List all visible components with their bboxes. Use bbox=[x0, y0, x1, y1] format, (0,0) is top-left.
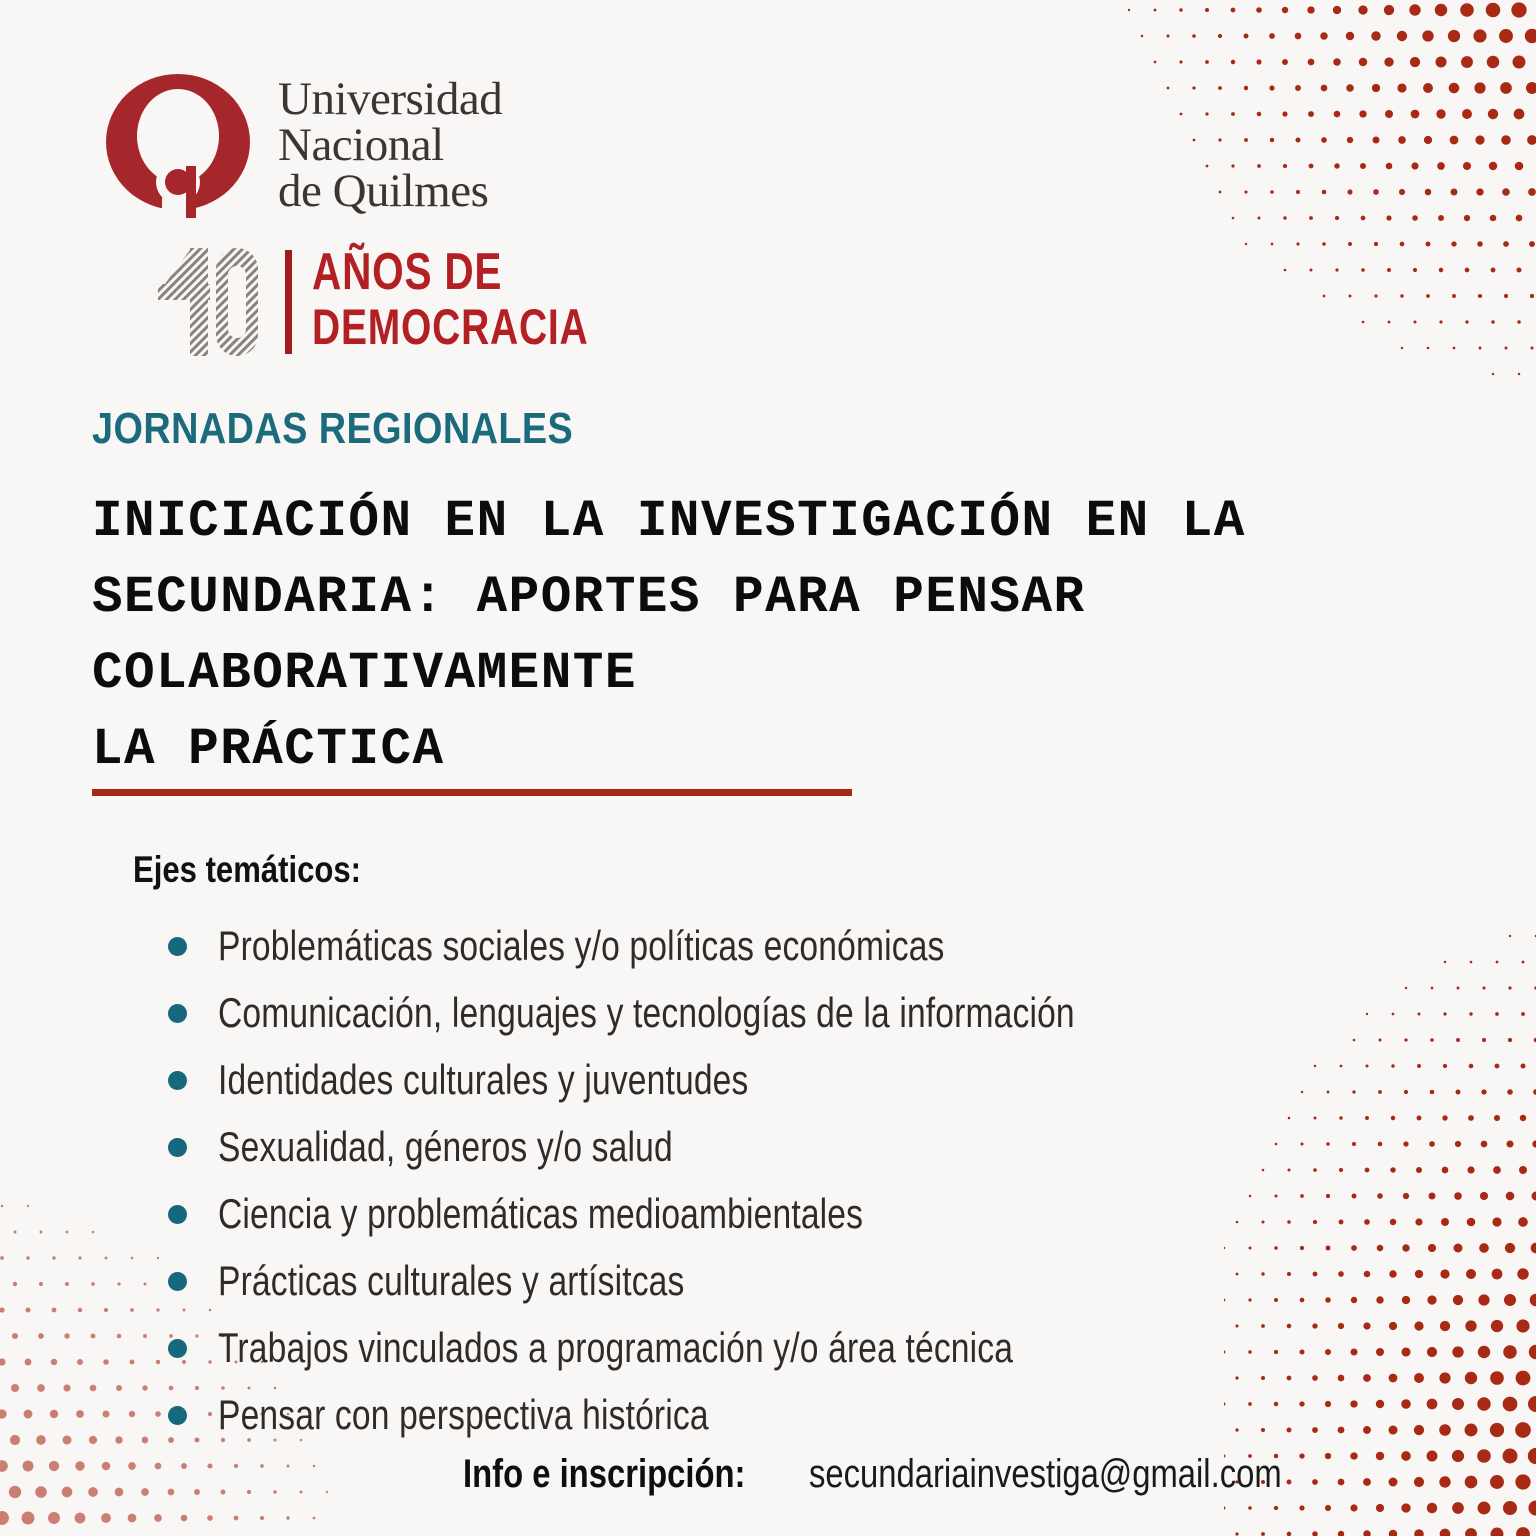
university-logo-block: Universidad Nacional de Quilmes bbox=[92, 62, 652, 362]
bullet-icon bbox=[168, 1138, 187, 1157]
list-item-label: Ciencia y problemáticas medioambientales bbox=[218, 1190, 863, 1238]
title-line-1: INICIACIÓN EN LA INVESTIGACIÓN EN LA bbox=[92, 484, 1395, 560]
bullet-icon bbox=[168, 1339, 187, 1358]
badge-number-40 bbox=[152, 244, 262, 360]
bullet-icon bbox=[168, 1406, 187, 1425]
kicker-jornadas-regionales: JORNADAS REGIONALES bbox=[92, 404, 573, 454]
list-item-label: Prácticas culturales y artísitcas bbox=[218, 1257, 685, 1305]
list-item-label: Comunicación, lenguajes y tecnologías de… bbox=[218, 989, 1075, 1037]
list-item: Comunicación, lenguajes y tecnologías de… bbox=[168, 979, 1318, 1046]
list-item-label: Sexualidad, géneros y/o salud bbox=[218, 1123, 673, 1171]
title-divider-rule bbox=[92, 789, 852, 796]
badge-text: AÑOS DE DEMOCRACIA bbox=[312, 246, 666, 352]
ejes-tematicos-heading: Ejes temáticos: bbox=[133, 849, 361, 891]
40-years-democracy-badge: AÑOS DE DEMOCRACIA bbox=[152, 244, 572, 364]
badge-divider bbox=[285, 250, 292, 354]
wordmark-line-2: Nacional bbox=[278, 122, 502, 168]
list-item: Ciencia y problemáticas medioambientales bbox=[168, 1180, 1318, 1247]
title-line-4: LA PRÁCTICA bbox=[92, 712, 1395, 788]
list-item: Identidades culturales y juventudes bbox=[168, 1046, 1318, 1113]
list-item-label: Problemáticas sociales y/o políticas eco… bbox=[218, 922, 945, 970]
unq-wordmark: Universidad Nacional de Quilmes bbox=[278, 76, 502, 214]
list-item: Prácticas culturales y artísitcas bbox=[168, 1247, 1318, 1314]
badge-line-anos-de: AÑOS DE bbox=[312, 246, 588, 298]
wordmark-line-3: de Quilmes bbox=[278, 168, 502, 214]
footer-email[interactable]: secundariainvestiga@gmail.com bbox=[809, 1452, 1282, 1497]
list-item: Sexualidad, géneros y/o salud bbox=[168, 1113, 1318, 1180]
list-item: Pensar con perspectiva histórica bbox=[168, 1381, 1318, 1448]
bullet-icon bbox=[168, 1205, 187, 1224]
unq-q-monogram-icon bbox=[100, 70, 256, 220]
footer-label: Info e inscripción: bbox=[463, 1452, 745, 1497]
page-title: INICIACIÓN EN LA INVESTIGACIÓN EN LA SEC… bbox=[92, 484, 1422, 788]
wordmark-line-1: Universidad bbox=[278, 76, 502, 122]
poster-canvas: Universidad Nacional de Quilmes bbox=[0, 0, 1536, 1536]
bullet-icon bbox=[168, 1004, 187, 1023]
list-item: Problemáticas sociales y/o políticas eco… bbox=[168, 912, 1318, 979]
list-item-label: Pensar con perspectiva histórica bbox=[218, 1391, 709, 1439]
title-line-2: SECUNDARIA: APORTES PARA PENSAR bbox=[92, 560, 1395, 636]
footer-contact: Info e inscripción: secundariainvestiga@… bbox=[463, 1452, 1386, 1497]
list-item-label: Trabajos vinculados a programación y/o á… bbox=[218, 1324, 1013, 1372]
list-item-label: Identidades culturales y juventudes bbox=[218, 1056, 748, 1104]
bullet-icon bbox=[168, 1272, 187, 1291]
bullet-icon bbox=[168, 1071, 187, 1090]
halftone-dots-top-right bbox=[1116, 0, 1536, 450]
bullet-icon bbox=[168, 937, 187, 956]
ejes-tematicos-list: Problemáticas sociales y/o políticas eco… bbox=[168, 912, 1318, 1448]
list-item: Trabajos vinculados a programación y/o á… bbox=[168, 1314, 1318, 1381]
title-line-3: COLABORATIVAMENTE bbox=[92, 636, 1395, 712]
badge-line-democracia: DEMOCRACIA bbox=[312, 302, 588, 352]
